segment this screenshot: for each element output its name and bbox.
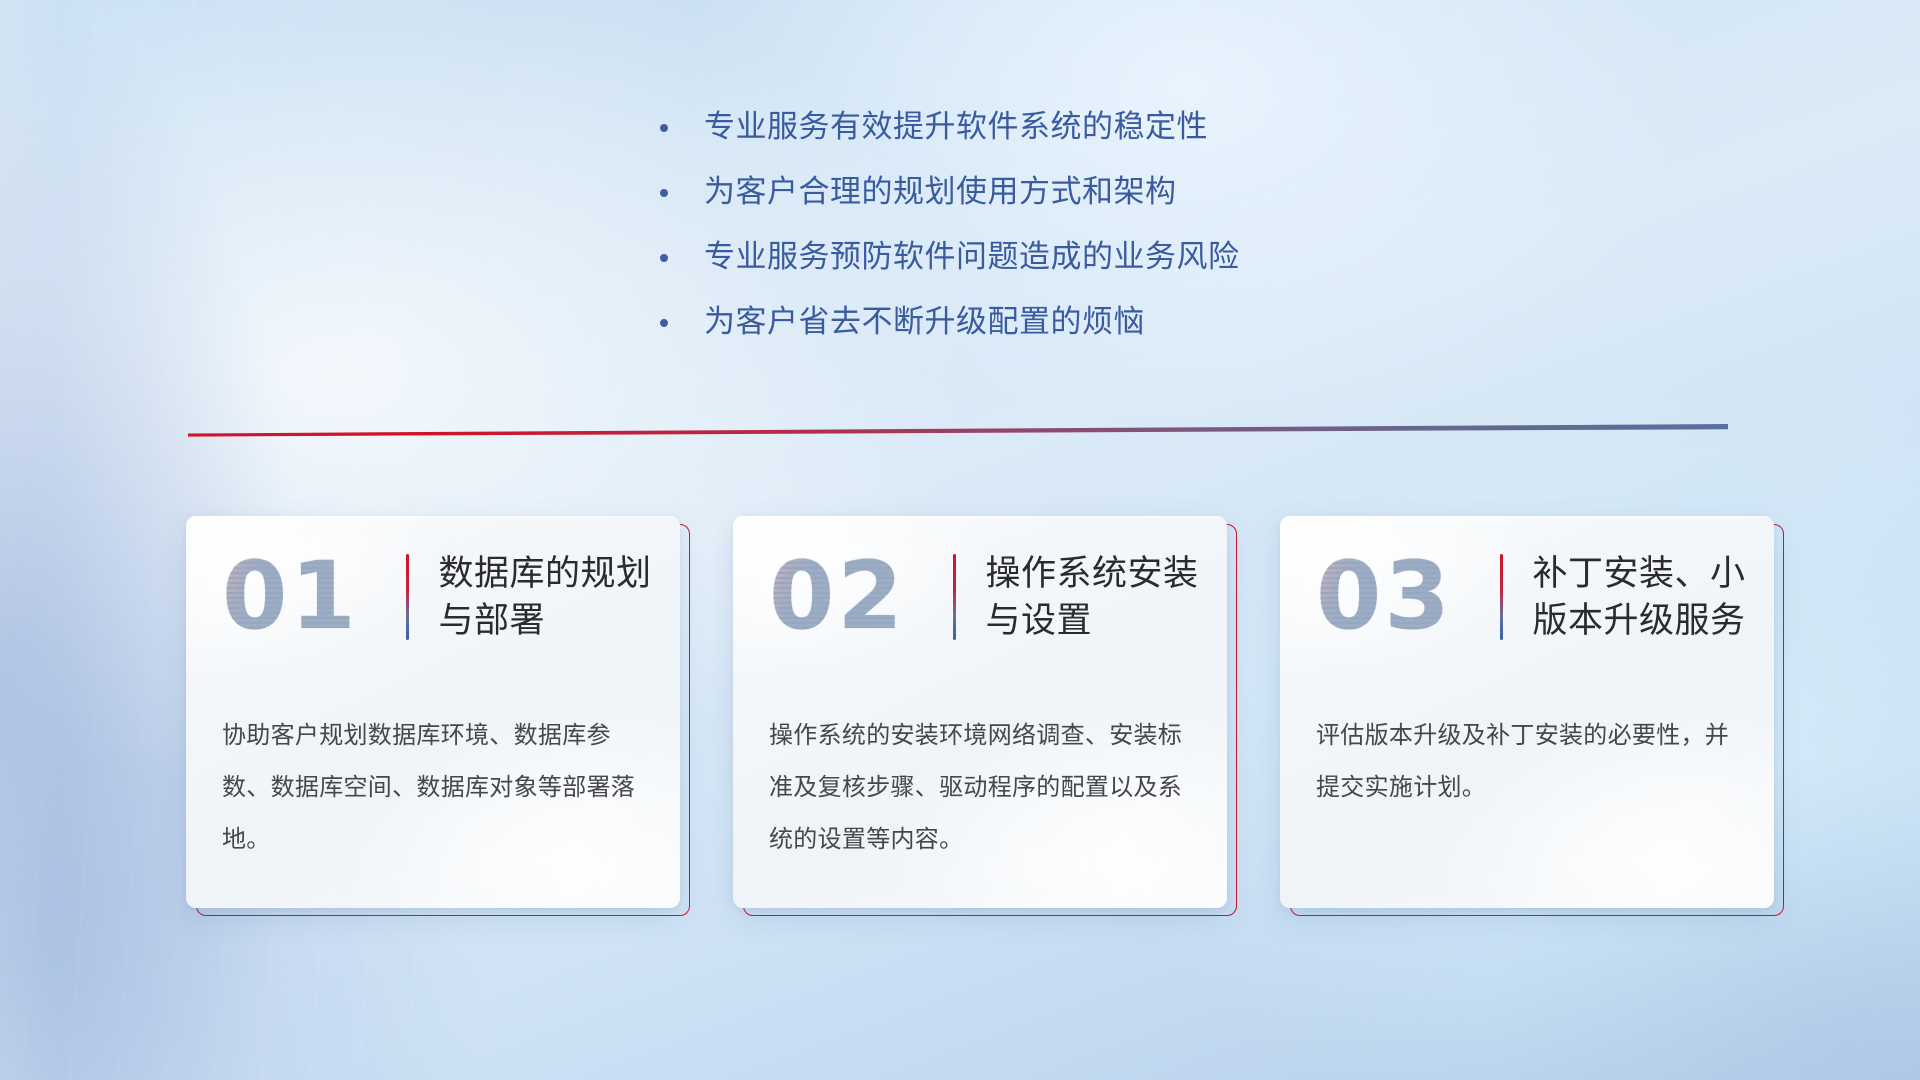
card-surface[interactable]: 03 补丁安装、小版本升级服务 评估版本升级及补丁安装的必要性，并提交实施计划。 [1280, 516, 1774, 908]
card-header: 01 数据库的规划与部署 [186, 516, 680, 678]
list-item: 专业服务有效提升软件系统的稳定性 [660, 108, 1240, 146]
card-description: 评估版本升级及补丁安装的必要性，并提交实施计划。 [1280, 710, 1774, 814]
card-number: 02 [769, 550, 953, 644]
card-row: 01 数据库的规划与部署 协助客户规划数据库环境、数据库参数、数据库空间、数据库… [186, 516, 1774, 916]
card-title: 数据库的规划与部署 [439, 550, 681, 644]
bullet-text: 为客户省去不断升级配置的烦恼 [704, 303, 1145, 341]
card-divider-rule [1500, 554, 1503, 640]
card-number-text: 01 [222, 550, 359, 644]
card-number-text: 03 [1316, 550, 1453, 644]
card-divider-rule [953, 554, 956, 640]
list-item: 为客户合理的规划使用方式和架构 [660, 173, 1240, 211]
card-02[interactable]: 02 操作系统安装与设置 操作系统的安装环境网络调查、安装标准及复核步骤、驱动程… [733, 516, 1227, 908]
card-header: 03 补丁安装、小版本升级服务 [1280, 516, 1774, 678]
list-item: 专业服务预防软件问题造成的业务风险 [660, 238, 1240, 276]
bullet-list: 专业服务有效提升软件系统的稳定性 为客户合理的规划使用方式和架构 专业服务预防软… [660, 108, 1240, 368]
card-surface[interactable]: 01 数据库的规划与部署 协助客户规划数据库环境、数据库参数、数据库空间、数据库… [186, 516, 680, 908]
slide-root: 专业服务有效提升软件系统的稳定性 为客户合理的规划使用方式和架构 专业服务预防软… [0, 0, 1920, 1080]
card-surface[interactable]: 02 操作系统安装与设置 操作系统的安装环境网络调查、安装标准及复核步骤、驱动程… [733, 516, 1227, 908]
divider-shape-icon [188, 424, 1728, 440]
card-divider-rule [406, 554, 409, 640]
card-title: 操作系统安装与设置 [986, 550, 1228, 644]
bullet-text: 专业服务预防软件问题造成的业务风险 [704, 238, 1240, 276]
card-header: 02 操作系统安装与设置 [733, 516, 1227, 678]
section-divider [188, 424, 1728, 440]
bullet-dot-icon [660, 319, 668, 327]
bullet-text: 为客户合理的规划使用方式和架构 [704, 173, 1177, 211]
card-description: 操作系统的安装环境网络调查、安装标准及复核步骤、驱动程序的配置以及系统的设置等内… [733, 710, 1227, 866]
card-number-text: 02 [769, 550, 906, 644]
card-number: 01 [222, 550, 406, 644]
bullet-dot-icon [660, 189, 668, 197]
bullet-text: 专业服务有效提升软件系统的稳定性 [704, 108, 1208, 146]
card-description: 协助客户规划数据库环境、数据库参数、数据库空间、数据库对象等部署落地。 [186, 710, 680, 866]
bullet-dot-icon [660, 124, 668, 132]
card-number: 03 [1316, 550, 1500, 644]
card-title: 补丁安装、小版本升级服务 [1533, 550, 1775, 644]
card-01[interactable]: 01 数据库的规划与部署 协助客户规划数据库环境、数据库参数、数据库空间、数据库… [186, 516, 680, 908]
card-03[interactable]: 03 补丁安装、小版本升级服务 评估版本升级及补丁安装的必要性，并提交实施计划。 [1280, 516, 1774, 908]
list-item: 为客户省去不断升级配置的烦恼 [660, 303, 1240, 341]
bullet-dot-icon [660, 254, 668, 262]
